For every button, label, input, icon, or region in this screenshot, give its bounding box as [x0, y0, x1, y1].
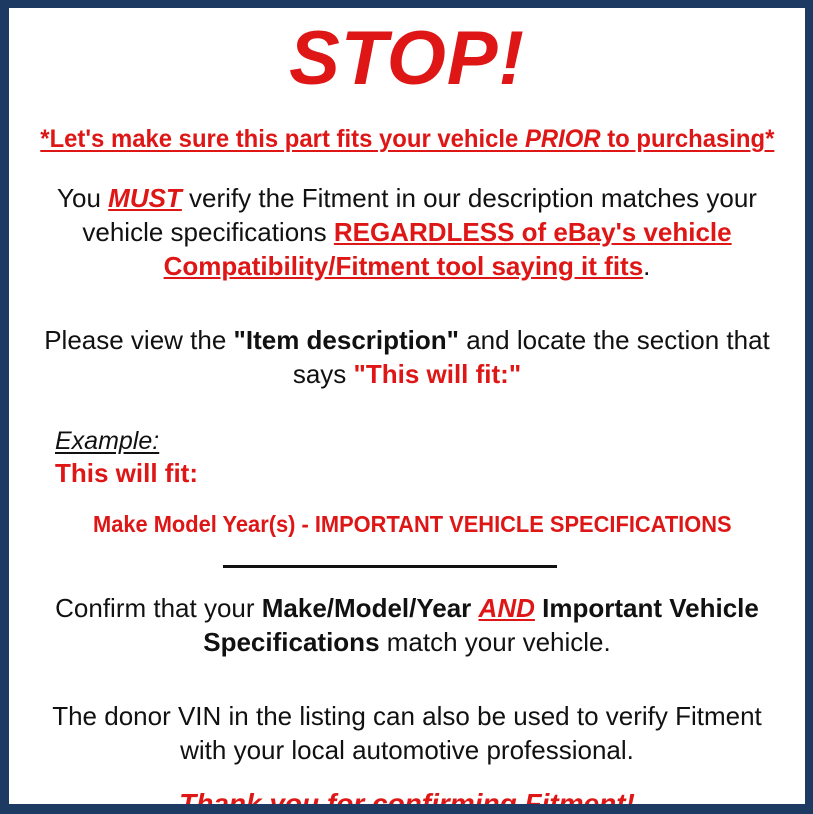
notice-border-frame: STOP! *Let's make sure this part fits yo… — [0, 0, 813, 814]
confirm-text-part4: match your vehicle. — [380, 627, 611, 657]
subtitle-verify-fitment: *Let's make sure this part fits your veh… — [27, 124, 787, 154]
paragraph-confirm-match: Confirm that your Make/Model/Year AND Im… — [9, 591, 805, 659]
paragraph-item-description: Please view the "Item description" and l… — [9, 323, 805, 391]
subtitle-emphasis-prior: PRIOR — [525, 125, 601, 153]
subtitle-suffix: to purchasing* — [601, 125, 775, 153]
section-divider — [9, 565, 805, 568]
divider-rule — [223, 565, 557, 568]
subtitle-prefix: *Let's make sure this part fits your veh… — [40, 125, 525, 153]
must-text-part1: You — [57, 183, 108, 213]
itemdesc-text-part1: Please view the — [44, 325, 233, 355]
this-will-fit-emphasis: "This will fit:" — [354, 359, 522, 389]
paragraph-donor-vin: The donor VIN in the listing can also be… — [9, 699, 805, 767]
and-emphasis: AND — [479, 593, 535, 623]
make-model-year-emphasis: Make/Model/Year — [262, 593, 472, 623]
example-block: Example: This will fit: Make Model Year(… — [9, 427, 805, 538]
must-emphasis: MUST — [108, 183, 182, 213]
fitment-notice-card: STOP! *Let's make sure this part fits yo… — [9, 8, 805, 804]
confirm-text-part1: Confirm that your — [55, 593, 262, 623]
example-spec-line: Make Model Year(s) - IMPORTANT VEHICLE S… — [55, 510, 768, 538]
item-description-emphasis: "Item description" — [234, 325, 459, 355]
example-this-will-fit: This will fit: — [55, 458, 805, 488]
paragraph-must-verify: You MUST verify the Fitment in our descr… — [9, 181, 805, 283]
example-label: Example: — [55, 427, 159, 456]
confirm-text-part2 — [471, 593, 478, 623]
must-text-part3: . — [643, 251, 650, 281]
thank-you-line: Thank you for confirming Fitment! — [9, 787, 805, 804]
stop-title: STOP! — [9, 8, 805, 102]
